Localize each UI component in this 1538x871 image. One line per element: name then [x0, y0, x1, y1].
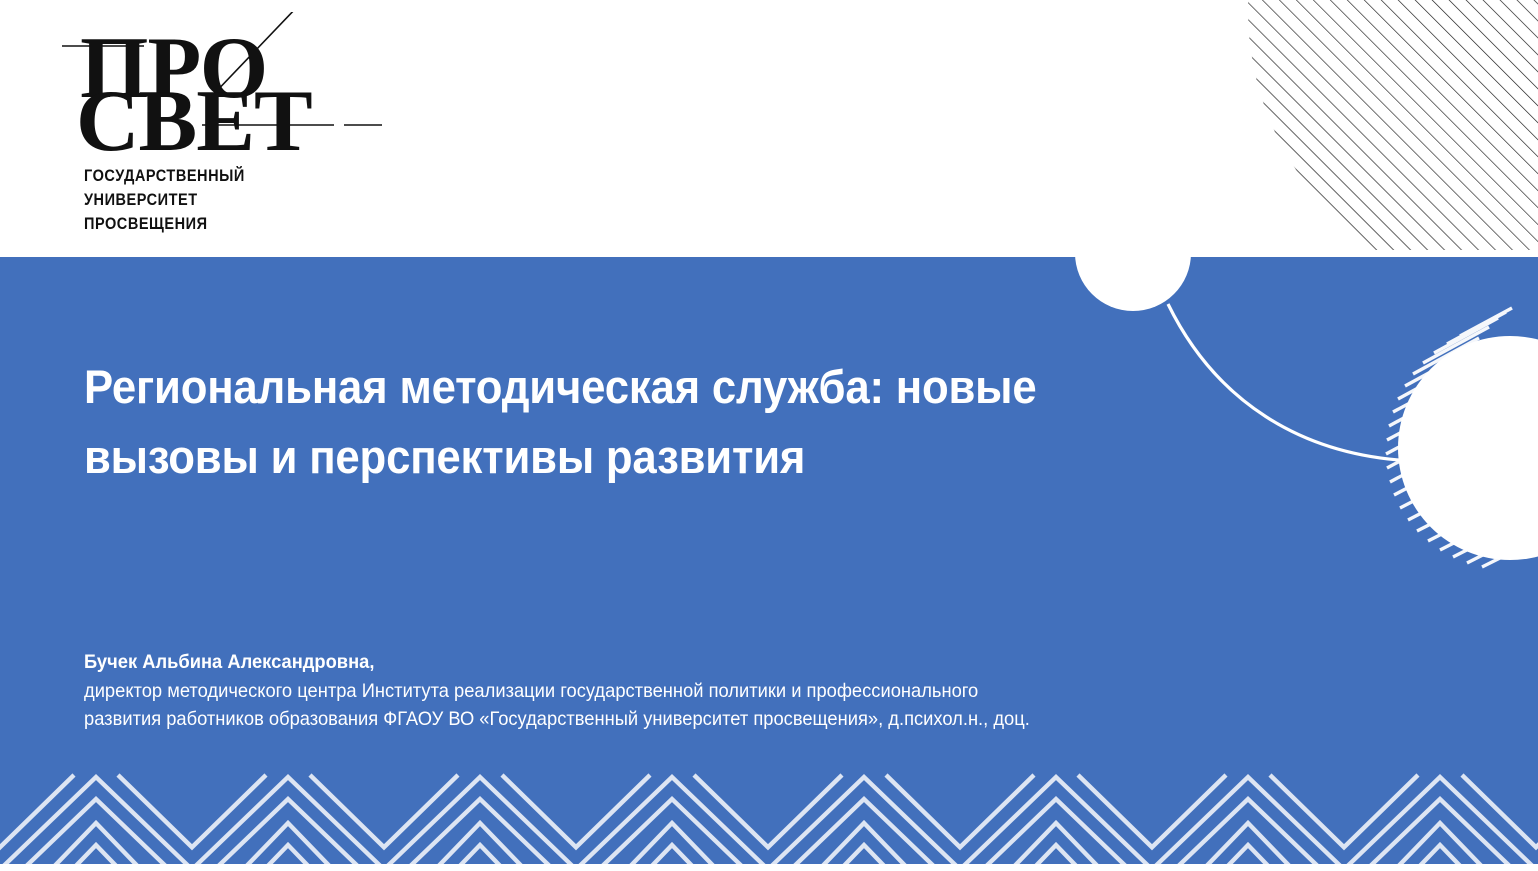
- bottom-white-rule: [0, 864, 1538, 871]
- author-role-line2: развития работников образования ФГАОУ ВО…: [84, 705, 1212, 734]
- logo-wordmark-svet: СВЕТ: [76, 73, 312, 162]
- slide-title-line1: Региональная методическая служба: новые: [84, 352, 1051, 422]
- university-logo: ПРО СВЕТ ГОСУДАРСТВЕННЫЙ УНИВЕРСИТЕТ ПРО…: [62, 12, 382, 242]
- author-role-line1: директор методического центра Института …: [84, 677, 1212, 706]
- logo-subtitle-line3: ПРОСВЕЩЕНИЯ: [84, 215, 208, 233]
- slide-title: Региональная методическая служба: новые …: [84, 352, 1051, 492]
- logo-subtitle: ГОСУДАРСТВЕННЫЙ УНИВЕРСИТЕТ ПРОСВЕЩЕНИЯ: [84, 164, 245, 236]
- author-block: Бучек Альбина Александровна, директор ме…: [84, 648, 1212, 734]
- blue-content-band: [0, 257, 1538, 864]
- logo-subtitle-line1: ГОСУДАРСТВЕННЫЙ: [84, 167, 245, 185]
- author-name: Бучек Альбина Александровна,: [84, 648, 1212, 677]
- hatched-quarter-circle-decoration: [1228, 0, 1538, 250]
- presentation-slide: ПРО СВЕТ ГОСУДАРСТВЕННЫЙ УНИВЕРСИТЕТ ПРО…: [0, 0, 1538, 871]
- logo-subtitle-line2: УНИВЕРСИТЕТ: [84, 191, 198, 209]
- slide-title-line2: вызовы и перспективы развития: [84, 422, 1051, 492]
